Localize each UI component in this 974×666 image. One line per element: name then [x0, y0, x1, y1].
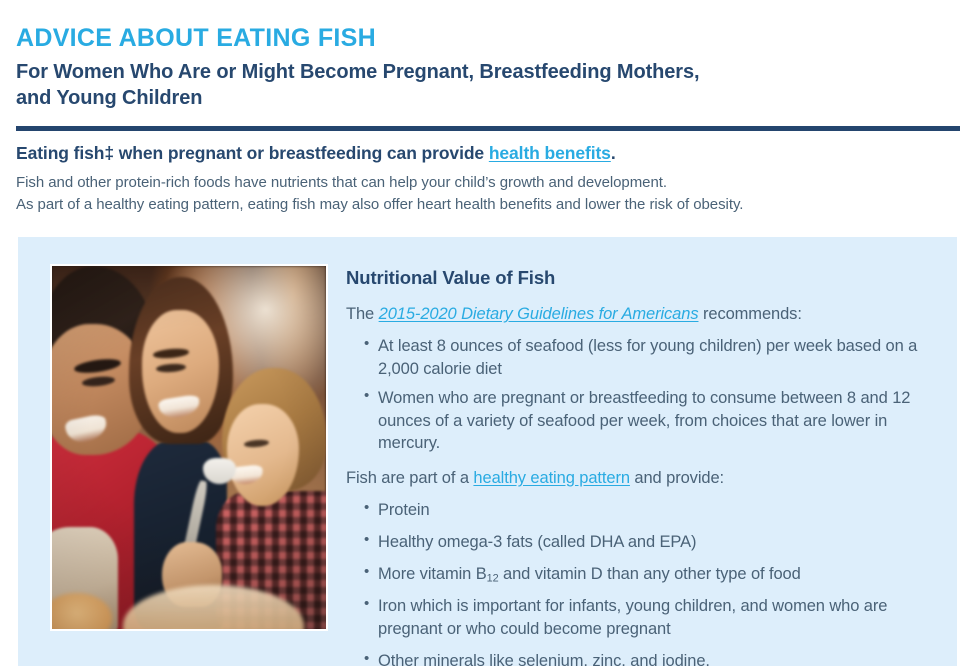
- list-item: Protein: [378, 499, 936, 522]
- bullet-text: Other minerals like selenium, zinc, and …: [378, 652, 710, 666]
- document-page: ADVICE ABOUT EATING FISH For Women Who A…: [0, 0, 974, 666]
- panel-heading: Nutritional Value of Fish: [346, 267, 936, 289]
- health-benefits-link[interactable]: health benefits: [489, 143, 611, 163]
- page-subtitle: For Women Who Are or Might Become Pregna…: [16, 60, 958, 111]
- guidelines-bullet-list: At least 8 ounces of seafood (less for y…: [346, 335, 936, 454]
- page-subtitle-line2: and Young Children: [16, 87, 202, 109]
- intro-lead-text-after: .: [611, 143, 616, 163]
- list-item: Women who are pregnant or breastfeeding …: [378, 387, 936, 454]
- intro-lead-text-before: Eating fish‡ when pregnant or breastfeed…: [16, 143, 489, 163]
- intro-body: Fish and other protein-rich foods have n…: [16, 172, 966, 216]
- list-item: More vitamin B12 and vitamin D than any …: [378, 563, 936, 586]
- intro-body-line1: Fish and other protein-rich foods have n…: [16, 172, 966, 193]
- provide-text-after: and provide:: [630, 469, 724, 487]
- bullet-subscript: 12: [487, 573, 499, 585]
- list-item: Healthy omega-3 fats (called DHA and EPA…: [378, 531, 936, 554]
- dietary-guidelines-link[interactable]: 2015-2020 Dietary Guidelines for America…: [379, 305, 699, 323]
- provide-text-before: Fish are part of a: [346, 469, 473, 487]
- intro-lead-sentence: Eating fish‡ when pregnant or breastfeed…: [16, 142, 966, 165]
- bullet-text: More vitamin B: [378, 565, 487, 583]
- intro-body-line2: As part of a healthy eating pattern, eat…: [16, 194, 966, 215]
- photo-vignette: [52, 266, 326, 629]
- nutritional-value-panel: Nutritional Value of Fish The 2015-2020 …: [18, 237, 957, 666]
- panel-text-column: Nutritional Value of Fish The 2015-2020 …: [346, 267, 936, 666]
- header-divider-rule: [16, 126, 960, 131]
- bullet-text: Healthy omega-3 fats (called DHA and EPA…: [378, 533, 696, 551]
- page-subtitle-line1: For Women Who Are or Might Become Pregna…: [16, 61, 699, 83]
- bullet-text: Iron which is important for infants, you…: [378, 597, 887, 637]
- nutrients-bullet-list: Protein Healthy omega-3 fats (called DHA…: [346, 499, 936, 666]
- list-item: At least 8 ounces of seafood (less for y…: [378, 335, 936, 380]
- list-item: Iron which is important for infants, you…: [378, 595, 936, 641]
- intro-section: Eating fish‡ when pregnant or breastfeed…: [16, 142, 966, 215]
- list-item: Other minerals like selenium, zinc, and …: [378, 650, 936, 666]
- guidelines-text-before: The: [346, 305, 379, 323]
- document-header: ADVICE ABOUT EATING FISH For Women Who A…: [16, 24, 958, 111]
- bullet-text: Protein: [378, 501, 430, 519]
- healthy-eating-pattern-link[interactable]: healthy eating pattern: [473, 469, 630, 487]
- family-eating-photo: [50, 264, 328, 631]
- bullet-text-tail: and vitamin D than any other type of foo…: [499, 565, 801, 583]
- guidelines-text-after: recommends:: [698, 305, 801, 323]
- dietary-guidelines-paragraph: The 2015-2020 Dietary Guidelines for Ame…: [346, 303, 936, 325]
- photo-canvas: [52, 266, 326, 629]
- healthy-eating-paragraph: Fish are part of a healthy eating patter…: [346, 467, 936, 489]
- page-title: ADVICE ABOUT EATING FISH: [16, 24, 958, 52]
